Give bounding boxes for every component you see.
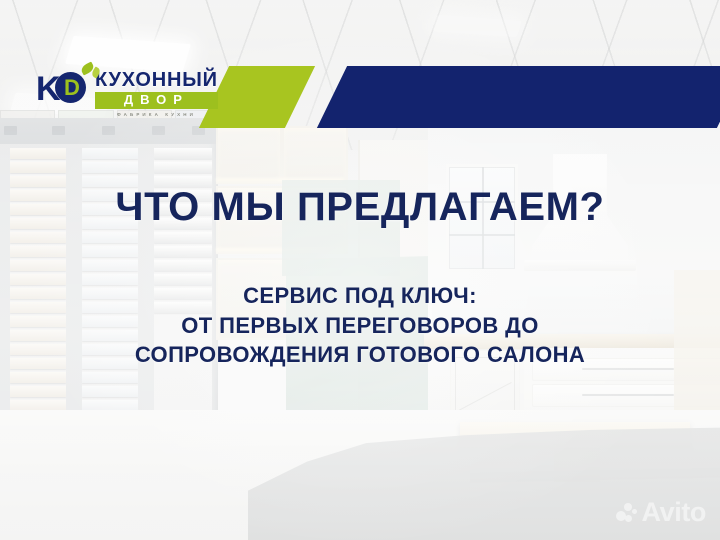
sample-slat (10, 260, 66, 271)
sample-slat (10, 344, 66, 355)
range-hood-lip (524, 260, 636, 271)
sample-slat (82, 260, 138, 271)
sample-slat (154, 274, 212, 285)
sample-slat (154, 190, 212, 201)
sample-slat (82, 148, 138, 159)
sample-slat (82, 190, 138, 201)
sample-slat (10, 372, 66, 383)
brand-tagline: ФАБРИКА КУХНИ (95, 112, 218, 117)
sample-slat (82, 358, 138, 369)
sample-slat (10, 302, 66, 313)
rack-clip (4, 126, 17, 135)
window (446, 164, 518, 272)
sample-slat (82, 162, 138, 173)
sample-slat (10, 316, 66, 327)
sample-slat (154, 288, 212, 299)
sample-slat (154, 246, 212, 257)
sample-slat (154, 302, 212, 313)
brand-name-line2: ДВОР (95, 92, 218, 109)
sample-slat (154, 218, 212, 229)
avito-dots-icon (616, 502, 638, 524)
avito-dot (625, 515, 632, 522)
promo-slide: K D КУХОННЫЙ ДВОР ФАБРИКА КУХНИ ЧТО МЫ П… (0, 0, 720, 540)
rack-clip (152, 126, 165, 135)
sample-slat (154, 176, 212, 187)
avito-watermark: Avito (616, 499, 707, 526)
brand-logo[interactable]: K D КУХОННЫЙ ДВОР ФАБРИКА КУХНИ (36, 70, 218, 117)
sample-slat (10, 204, 66, 215)
monogram-letter-d: D (64, 77, 80, 99)
sample-slat (10, 218, 66, 229)
sample-slat (82, 344, 138, 355)
sample-slat (154, 162, 212, 173)
sample-slat (10, 386, 66, 397)
avito-dot (616, 511, 626, 521)
avito-wordmark: Avito (642, 499, 707, 526)
sample-slat (10, 162, 66, 173)
sample-slat (82, 288, 138, 299)
rack-clip (102, 126, 115, 135)
sample-slat (10, 176, 66, 187)
sample-slat (82, 204, 138, 215)
sample-slat (82, 330, 138, 341)
monogram-letter-d-badge: D (55, 72, 86, 103)
sample-slat (10, 288, 66, 299)
brand-name-line1: КУХОННЫЙ (95, 70, 218, 90)
sample-slat (82, 386, 138, 397)
white-kitchen-display (428, 120, 720, 460)
sample-slat (82, 372, 138, 383)
sample-slat (10, 330, 66, 341)
sample-slat (10, 190, 66, 201)
sample-slat (82, 176, 138, 187)
sample-slat (154, 260, 212, 271)
sample-slat (82, 316, 138, 327)
sample-slat (82, 302, 138, 313)
sample-slat (10, 232, 66, 243)
brand-wordmark: КУХОННЫЙ ДВОР ФАБРИКА КУХНИ (95, 70, 218, 117)
rack-clip (52, 126, 65, 135)
avito-dot (624, 503, 632, 511)
window-mullion (449, 234, 515, 236)
sample-slat (82, 232, 138, 243)
sample-slat (154, 148, 212, 159)
sample-slat (82, 246, 138, 257)
sample-slat (10, 246, 66, 257)
sample-slat (10, 358, 66, 369)
avito-dot (632, 509, 637, 514)
kd-monogram-icon: K D (36, 70, 88, 110)
sample-slat (82, 274, 138, 285)
sample-slat (154, 232, 212, 243)
rack-clip (192, 126, 205, 135)
sample-slat (82, 218, 138, 229)
sample-slat (154, 204, 212, 215)
open-shelf (216, 126, 282, 184)
sample-slat (10, 274, 66, 285)
open-shelf (282, 126, 348, 184)
sample-slat (10, 148, 66, 159)
